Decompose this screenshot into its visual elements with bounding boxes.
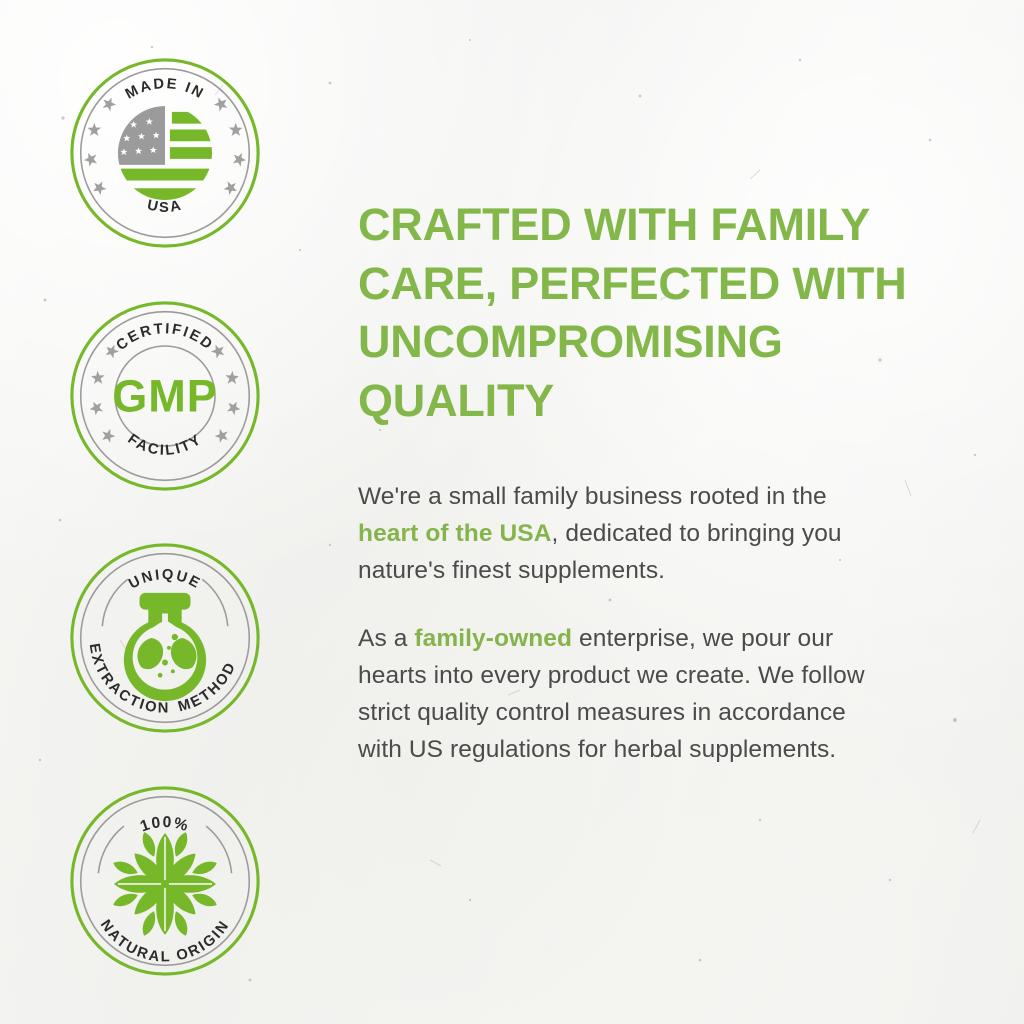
badge-bottom-label: FACILITY (125, 431, 206, 459)
badge-natural-origin: 100% NATURAL ORIGIN (67, 783, 263, 979)
badge-gmp-certified-facility: GMP CERTIFIED FACILITY (67, 298, 263, 494)
page-title: Crafted with family care, perfected with… (358, 196, 914, 430)
trust-badges-column: MADE IN USA (0, 0, 330, 1024)
badge-bottom-label: USA (146, 197, 185, 215)
text-segment: We're a small family business rooted in … (358, 483, 827, 510)
text-segment: As a (358, 625, 414, 652)
gmp-center-label: GMP (112, 370, 218, 421)
badge-made-in-usa: MADE IN USA (67, 55, 263, 251)
usa-flag-circle-icon (118, 106, 212, 200)
badge-unique-extraction-method: UNIQUE EXTRACTION METHOD (67, 540, 263, 736)
badge-top-label: CERTIFIED (113, 321, 216, 354)
highlighted-phrase: family-owned (414, 625, 572, 652)
highlighted-phrase: heart of the USA (358, 520, 552, 547)
copy-column: Crafted with family care, perfected with… (330, 0, 1024, 1024)
badge-top-label: 100% (138, 814, 191, 836)
leaf-rosette-icon (111, 830, 218, 937)
promo-panel: MADE IN USA (0, 0, 1024, 1024)
badge-top-label: MADE IN (123, 76, 207, 103)
body-paragraph-2: As a family-owned enterprise, we pour ou… (358, 620, 878, 769)
flask-leaf-icon (124, 593, 206, 701)
badge-top-label: UNIQUE (126, 567, 204, 593)
body-paragraph-1: We're a small family business rooted in … (358, 478, 878, 590)
